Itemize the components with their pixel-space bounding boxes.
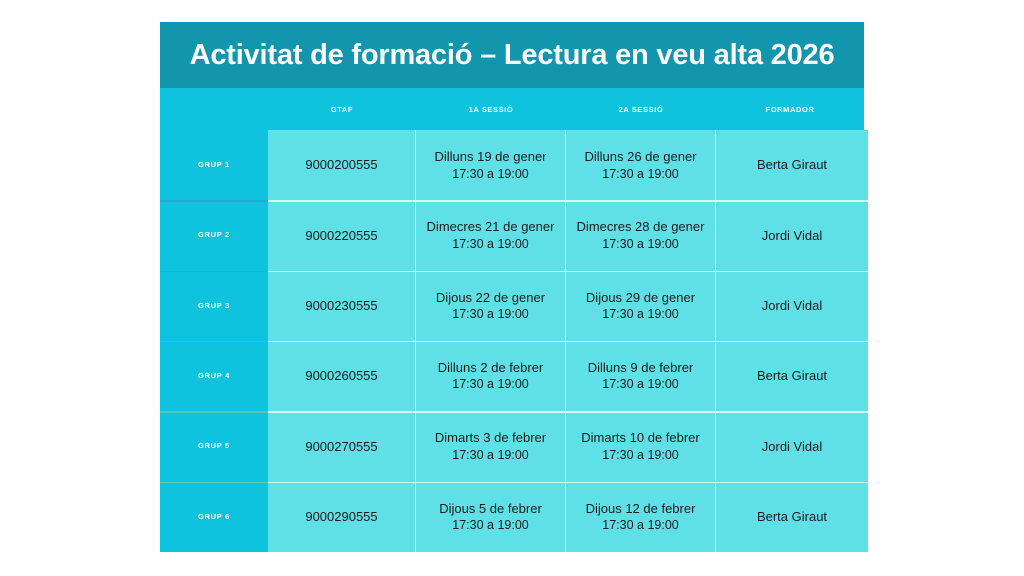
session-2-time: 17:30 a 19:00 [602, 236, 678, 253]
table-body: GRUP 1 9000200555 Dilluns 19 de gener 17… [160, 130, 868, 552]
cell-trainer: Jordi Vidal [716, 200, 868, 270]
cell-session-1: Dilluns 19 de gener 17:30 a 19:00 [416, 130, 566, 200]
column-header-session-2: 2a SESSIÓ [566, 88, 716, 130]
cell-group: GRUP 3 [160, 271, 268, 341]
table-row: GRUP 2 9000220555 Dimecres 21 de gener 1… [160, 200, 868, 270]
session-2-time: 17:30 a 19:00 [602, 447, 678, 464]
cell-group: GRUP 1 [160, 130, 268, 200]
cell-trainer: Jordi Vidal [716, 411, 868, 481]
cell-session-2: Dimecres 28 de gener 17:30 a 19:00 [566, 200, 716, 270]
session-2-time: 17:30 a 19:00 [602, 306, 678, 323]
session-1-date: Dijous 5 de febrer [439, 500, 542, 518]
session-2-date: Dilluns 9 de febrer [588, 359, 694, 377]
session-1-date: Dimarts 3 de febrer [435, 429, 546, 447]
cell-gtaf: 9000260555 [268, 341, 416, 411]
session-1-time: 17:30 a 19:00 [452, 517, 528, 534]
session-2-time: 17:30 a 19:00 [602, 517, 678, 534]
cell-session-1: Dimecres 21 de gener 17:30 a 19:00 [416, 200, 566, 270]
cell-group: GRUP 5 [160, 411, 268, 481]
session-2-date: Dijous 12 de febrer [586, 500, 696, 518]
cell-session-2: Dilluns 26 de gener 17:30 a 19:00 [566, 130, 716, 200]
session-2-time: 17:30 a 19:00 [602, 376, 678, 393]
session-2-date: Dijous 29 de gener [586, 289, 695, 307]
table-header-row: GTAF 1a SESSIÓ 2a SESSIÓ FORMADOR [160, 88, 864, 130]
session-1-time: 17:30 a 19:00 [452, 306, 528, 323]
cell-trainer: Berta Giraut [716, 341, 868, 411]
cell-group: GRUP 4 [160, 341, 268, 411]
session-1-date: Dimecres 21 de gener [427, 218, 555, 236]
title-bar: Activitat de formació – Lectura en veu a… [160, 22, 864, 88]
table-row: GRUP 6 9000290555 Dijous 5 de febrer 17:… [160, 482, 868, 552]
column-header-group [160, 88, 268, 130]
cell-session-2: Dilluns 9 de febrer 17:30 a 19:00 [566, 341, 716, 411]
column-header-gtaf: GTAF [268, 88, 416, 130]
cell-session-1: Dilluns 2 de febrer 17:30 a 19:00 [416, 341, 566, 411]
cell-gtaf: 9000200555 [268, 130, 416, 200]
session-1-date: Dilluns 19 de gener [434, 148, 546, 166]
session-1-date: Dilluns 2 de febrer [438, 359, 544, 377]
cell-gtaf: 9000270555 [268, 411, 416, 481]
cell-gtaf: 9000220555 [268, 200, 416, 270]
cell-group: GRUP 6 [160, 482, 268, 552]
column-header-session-1: 1a SESSIÓ [416, 88, 566, 130]
cell-trainer: Jordi Vidal [716, 271, 868, 341]
table-row: GRUP 4 9000260555 Dilluns 2 de febrer 17… [160, 341, 868, 411]
session-1-time: 17:30 a 19:00 [452, 376, 528, 393]
table-row: GRUP 5 9000270555 Dimarts 3 de febrer 17… [160, 411, 868, 481]
cell-session-2: Dijous 29 de gener 17:30 a 19:00 [566, 271, 716, 341]
cell-gtaf: 9000290555 [268, 482, 416, 552]
session-2-date: Dilluns 26 de gener [584, 148, 696, 166]
cell-session-1: Dijous 5 de febrer 17:30 a 19:00 [416, 482, 566, 552]
session-2-time: 17:30 a 19:00 [602, 166, 678, 183]
table-row: GRUP 1 9000200555 Dilluns 19 de gener 17… [160, 130, 868, 200]
cell-session-1: Dijous 22 de gener 17:30 a 19:00 [416, 271, 566, 341]
slide-canvas: Activitat de formació – Lectura en veu a… [0, 0, 1024, 576]
cell-session-2: Dijous 12 de febrer 17:30 a 19:00 [566, 482, 716, 552]
page-title: Activitat de formació – Lectura en veu a… [190, 39, 835, 72]
cell-trainer: Berta Giraut [716, 130, 868, 200]
cell-group: GRUP 2 [160, 200, 268, 270]
session-1-time: 17:30 a 19:00 [452, 166, 528, 183]
session-2-date: Dimarts 10 de febrer [581, 429, 700, 447]
session-2-date: Dimecres 28 de gener [577, 218, 705, 236]
cell-gtaf: 9000230555 [268, 271, 416, 341]
session-1-time: 17:30 a 19:00 [452, 236, 528, 253]
cell-session-2: Dimarts 10 de febrer 17:30 a 19:00 [566, 411, 716, 481]
column-header-trainer: FORMADOR [716, 88, 864, 130]
session-1-date: Dijous 22 de gener [436, 289, 545, 307]
cell-session-1: Dimarts 3 de febrer 17:30 a 19:00 [416, 411, 566, 481]
table-row: GRUP 3 9000230555 Dijous 22 de gener 17:… [160, 271, 868, 341]
session-1-time: 17:30 a 19:00 [452, 447, 528, 464]
cell-trainer: Berta Giraut [716, 482, 868, 552]
